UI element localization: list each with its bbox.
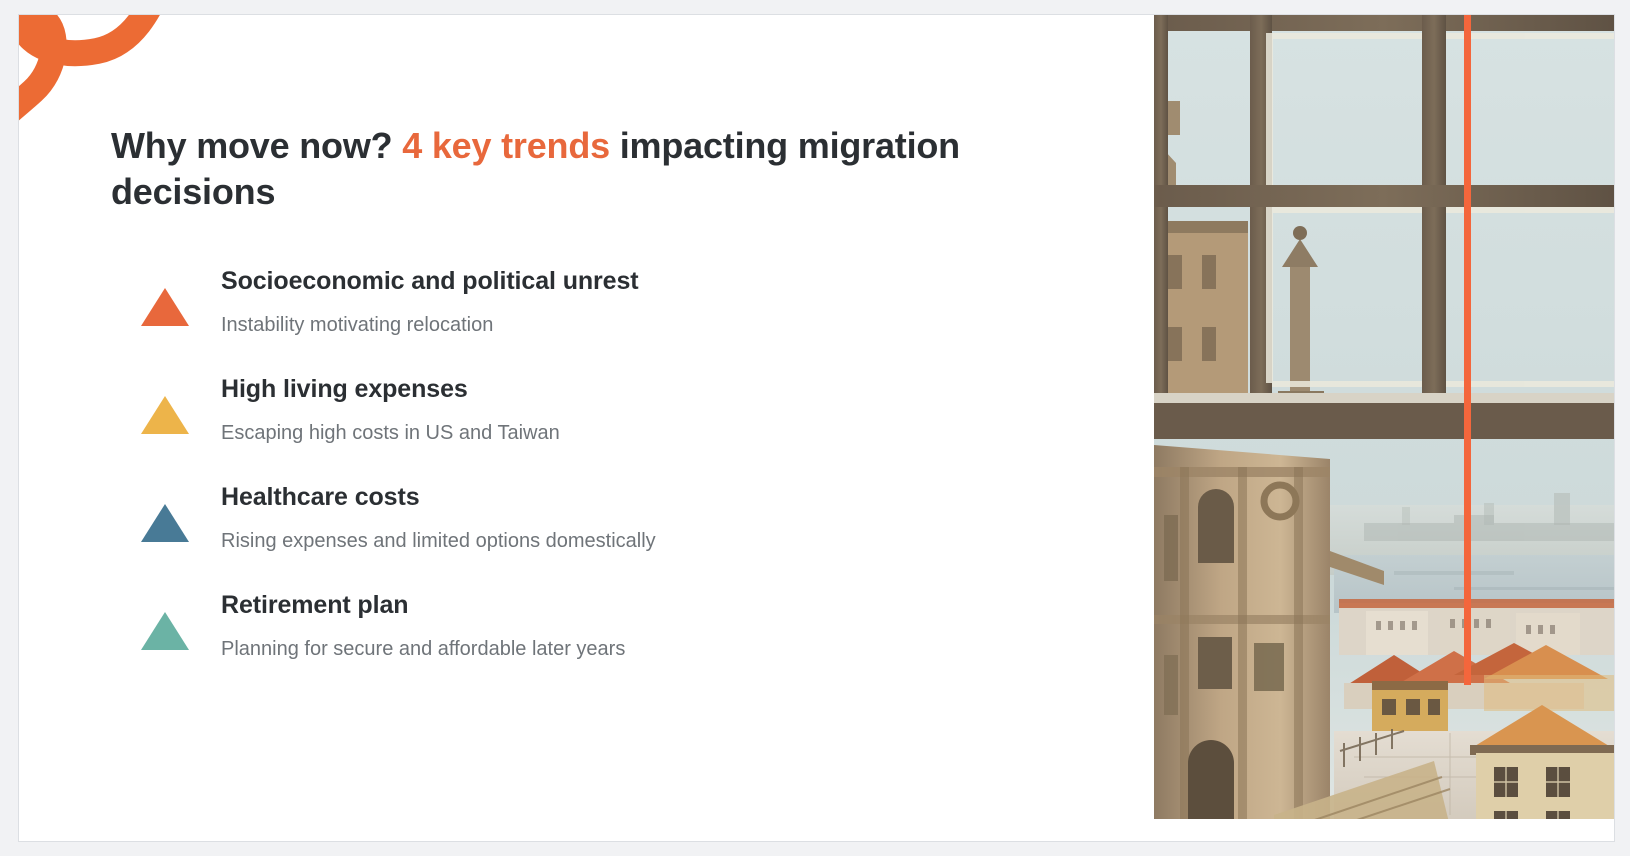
list-item: Socioeconomic and political unrest Insta… [111, 257, 1111, 365]
trend-subtitle: Instability motivating relocation [221, 313, 1111, 338]
trend-title: Socioeconomic and political unrest [221, 257, 1111, 296]
triangle-shape [141, 595, 189, 650]
triangle-shape [141, 487, 189, 542]
triangle-shape [141, 271, 189, 326]
triangle-icon [141, 487, 193, 527]
triangle-icon [141, 271, 193, 311]
trend-subtitle: Rising expenses and limited options dome… [221, 529, 1111, 554]
trend-title: Retirement plan [221, 581, 1111, 620]
photo-illustration [1154, 15, 1614, 841]
headline-accent: 4 key trends [402, 125, 610, 166]
trend-title: High living expenses [221, 365, 1111, 404]
list-item: High living expenses Escaping high costs… [111, 365, 1111, 473]
triangle-icon [141, 379, 193, 419]
slide-card: Why move now? 4 key trends impacting mig… [18, 14, 1615, 842]
trend-list: Socioeconomic and political unrest Insta… [111, 257, 1111, 677]
headline-part-before: Why move now? [111, 125, 402, 166]
slide-viewport: Why move now? 4 key trends impacting mig… [0, 0, 1630, 856]
list-item: Healthcare costs Rising expenses and lim… [111, 473, 1111, 581]
page-title: Why move now? 4 key trends impacting mig… [111, 123, 1046, 215]
triangle-shape [141, 379, 189, 434]
triangle-icon [141, 595, 193, 635]
orange-vertical-accent-icon [1464, 15, 1471, 685]
trend-title: Healthcare costs [221, 473, 1111, 512]
slide-content: Why move now? 4 key trends impacting mig… [19, 15, 1155, 841]
trend-subtitle: Planning for secure and affordable later… [221, 637, 1111, 662]
window-view-porto-photo [1154, 15, 1614, 841]
trend-subtitle: Escaping high costs in US and Taiwan [221, 421, 1111, 446]
photo-bottom-strip [1154, 819, 1614, 841]
list-item: Retirement plan Planning for secure and … [111, 581, 1111, 677]
